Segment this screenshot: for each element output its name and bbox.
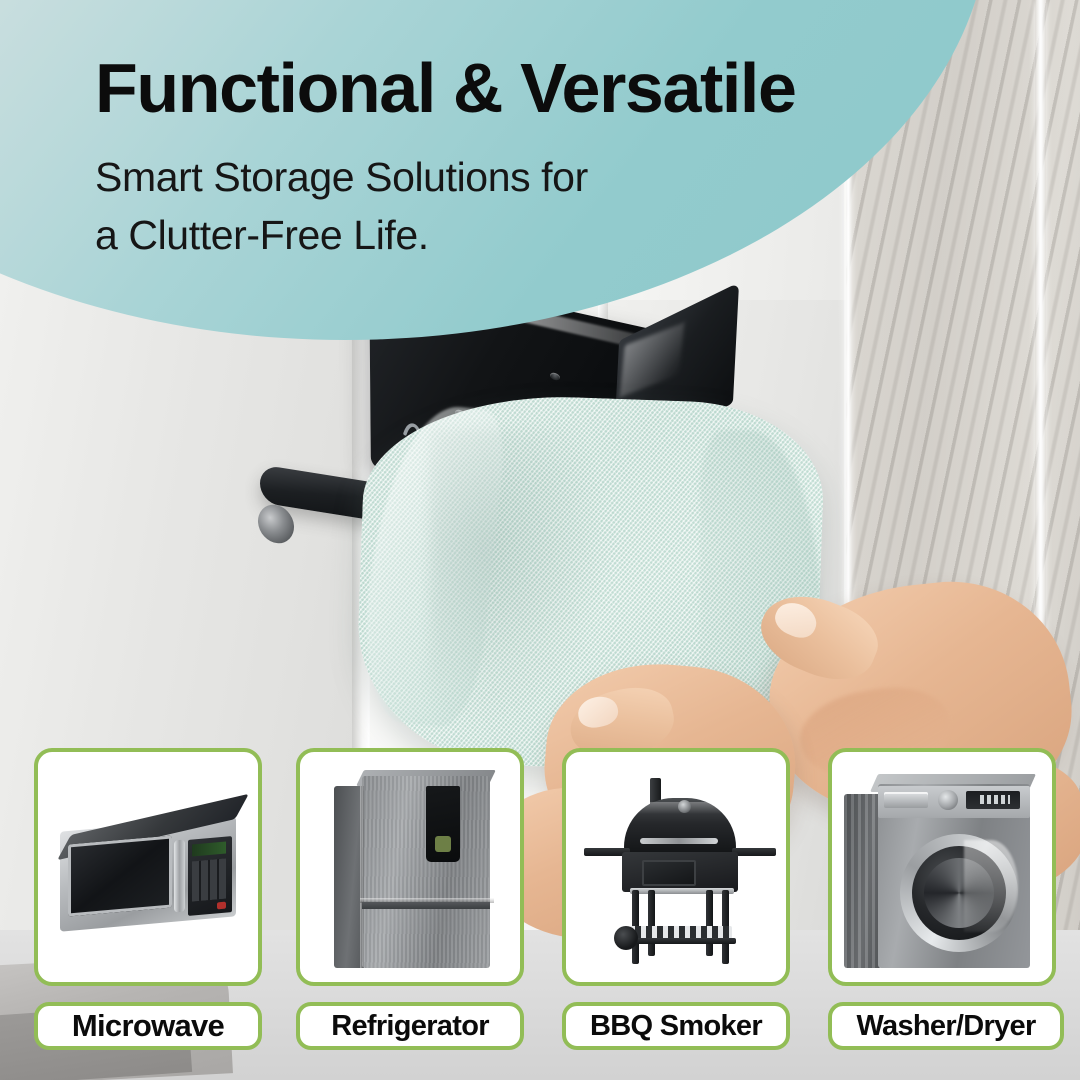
bbq-temperature-gauge bbox=[678, 800, 691, 813]
bbq-bottom-rack-bar bbox=[628, 938, 736, 944]
washer-door-glare bbox=[964, 840, 1018, 932]
microwave-label-text: Microwave bbox=[72, 1008, 224, 1044]
bbq-smoker-label-pill: BBQ Smoker bbox=[562, 1002, 790, 1050]
bbq-wheel bbox=[614, 926, 638, 950]
bbq-leg-4 bbox=[706, 890, 713, 956]
microwave-door bbox=[68, 835, 172, 916]
washer-dryer-icon bbox=[844, 770, 1044, 970]
hero-title: Functional & Versatile bbox=[95, 52, 895, 126]
hero-text-block: Functional & Versatile Smart Storage Sol… bbox=[95, 52, 895, 264]
refrigerator-freezer-divider bbox=[362, 902, 490, 909]
washer-side-panel bbox=[844, 794, 880, 968]
compatible-appliances-strip: Microwave Refrigerator bbox=[0, 748, 1080, 1068]
refrigerator-label-text: Refrigerator bbox=[331, 1010, 489, 1043]
hero-banner: Functional & Versatile Smart Storage Sol… bbox=[0, 0, 1080, 340]
microwave-label-pill: Microwave bbox=[34, 1002, 262, 1050]
appliance-card-microwave[interactable]: Microwave bbox=[34, 748, 262, 1050]
bbq-access-door bbox=[642, 860, 696, 886]
hero-subtitle-line-2: a Clutter-Free Life. bbox=[95, 206, 895, 264]
appliance-card-washer-dryer[interactable]: Washer/Dryer bbox=[828, 748, 1056, 1050]
bbq-right-side-shelf bbox=[732, 848, 776, 856]
bbq-mid-rail bbox=[630, 888, 734, 894]
washer-display-digits bbox=[980, 795, 1010, 804]
rack-bar-end-cap bbox=[257, 503, 296, 545]
refrigerator-card-image bbox=[296, 748, 524, 986]
microwave-icon bbox=[54, 810, 250, 932]
microwave-keypad bbox=[192, 859, 226, 902]
refrigerator-brand-badge bbox=[435, 836, 451, 852]
refrigerator-door-seam bbox=[360, 786, 364, 968]
washer-dryer-label-text: Washer/Dryer bbox=[856, 1010, 1035, 1043]
bbq-smoker-label-text: BBQ Smoker bbox=[590, 1010, 762, 1043]
refrigerator-label-pill: Refrigerator bbox=[296, 1002, 524, 1050]
bbq-lid-handle bbox=[640, 838, 718, 844]
microwave-card-image bbox=[34, 748, 262, 986]
product-marketing-image: Functional & Versatile Smart Storage Sol… bbox=[0, 0, 1080, 1080]
bbq-smoker-icon bbox=[584, 776, 776, 966]
microwave-handle bbox=[174, 840, 185, 913]
hero-subtitle-line-1: Smart Storage Solutions for bbox=[95, 148, 895, 206]
appliance-card-bbq-smoker[interactable]: BBQ Smoker bbox=[562, 748, 790, 1050]
microwave-stop-button bbox=[217, 902, 226, 910]
bbq-leg-3 bbox=[648, 890, 655, 956]
washer-detergent-drawer bbox=[884, 792, 928, 808]
washer-dryer-card-image bbox=[828, 748, 1056, 986]
washer-dryer-label-pill: Washer/Dryer bbox=[828, 1002, 1064, 1050]
bbq-smoker-card-image bbox=[562, 748, 790, 986]
washer-program-knob bbox=[938, 790, 958, 810]
refrigerator-icon bbox=[334, 770, 496, 972]
appliance-card-refrigerator[interactable]: Refrigerator bbox=[296, 748, 524, 1050]
hero-subtitle: Smart Storage Solutions for a Clutter-Fr… bbox=[95, 148, 895, 264]
